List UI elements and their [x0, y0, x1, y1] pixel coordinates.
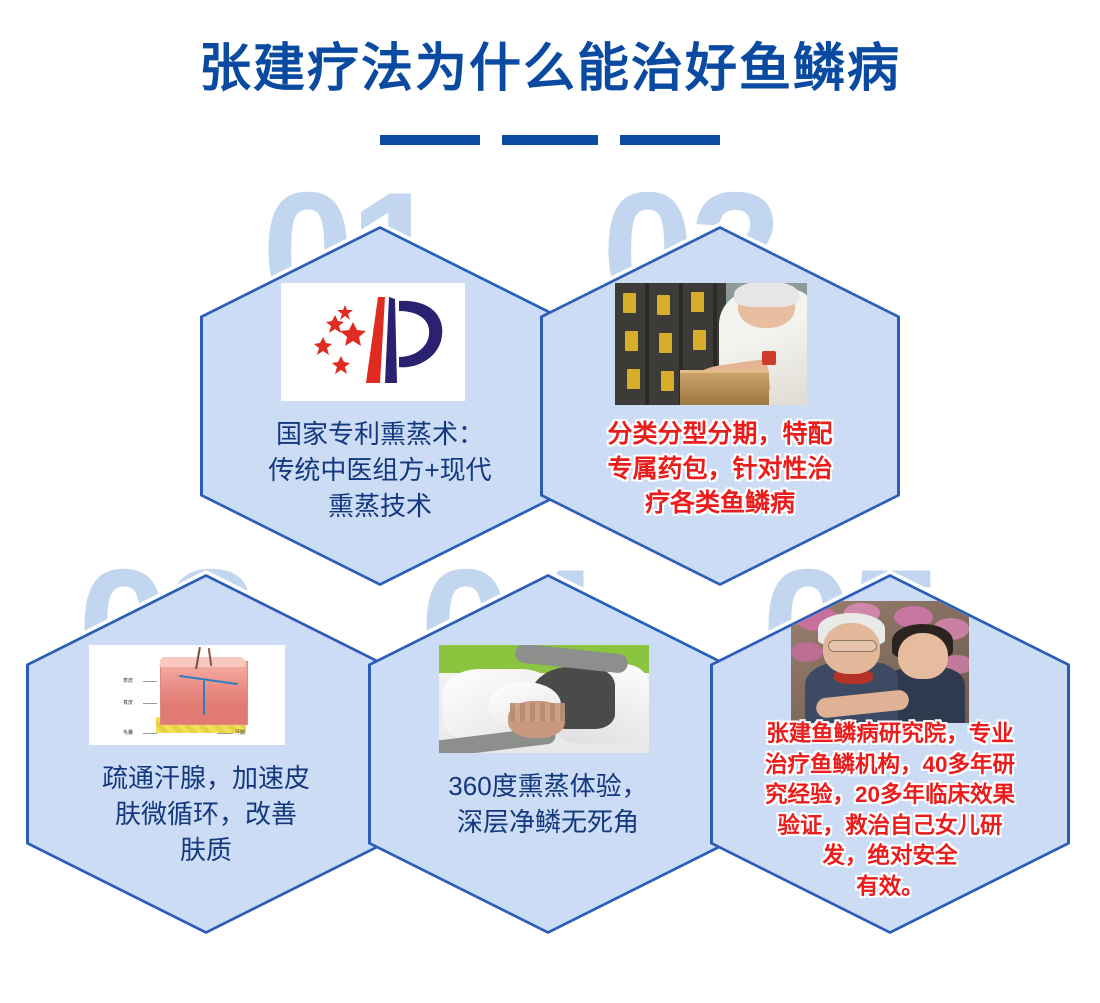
divider-dash-3	[620, 135, 720, 145]
leader-line	[143, 703, 157, 704]
drawer-label	[661, 371, 674, 391]
card-02-hexagon[interactable]: 分类分型分期，特配 专属药包，针对性治 疗各类鱼鳞病	[540, 226, 900, 586]
epidermis-surface	[158, 657, 246, 667]
divider-dash-1	[380, 135, 480, 145]
divider-dash-2	[502, 135, 598, 145]
drawer-label	[623, 293, 636, 313]
open-drawer	[680, 370, 768, 405]
leader-line	[143, 733, 157, 734]
poster-root: 张建疗法为什么能治好鱼鳞病 01 02 03 04 05	[0, 0, 1100, 1003]
card-04-text: 360度熏蒸体验， 深层净鳞无死角	[371, 769, 725, 841]
drawer-label	[627, 369, 640, 389]
family-photo-image	[791, 601, 969, 723]
founder-family-photo	[791, 601, 969, 723]
patent-logo-image	[281, 283, 465, 401]
skin-cross-section-diagram: 表皮 真皮 毛囊 汗腺	[89, 645, 285, 745]
tcm-pharmacy-image	[615, 283, 807, 405]
blood-vessel	[203, 681, 205, 715]
leader-line	[143, 681, 157, 682]
card-02-body: 分类分型分期，特配 专属药包，针对性治 疗各类鱼鳞病	[543, 229, 897, 583]
drawer-label	[657, 295, 670, 315]
label-follicle: 毛囊	[123, 729, 133, 736]
steam-bed-image	[439, 645, 649, 753]
drawer-label	[693, 330, 706, 350]
card-01-body: 国家专利熏蒸术： 传统中医组方+现代 熏蒸技术	[203, 229, 557, 583]
card-03-text: 疏通汗腺，加速皮 肤微循环，改善 肤质	[29, 761, 383, 869]
card-02-text: 分类分型分期，特配 专属药包，针对性治 疗各类鱼鳞病	[543, 417, 897, 521]
skin-diagram-image: 表皮 真皮 毛囊 汗腺	[89, 645, 285, 745]
face-mosaic	[510, 703, 565, 720]
doctor-hair	[734, 283, 799, 307]
drawer-label	[691, 292, 704, 312]
label-sweat-gland: 汗腺	[235, 729, 245, 736]
blossom	[791, 642, 823, 662]
tcm-pharmacy-photo	[615, 283, 807, 405]
daughter-face	[898, 633, 948, 679]
patent-logo-icon	[281, 283, 465, 401]
label-dermis: 真皮	[123, 699, 133, 706]
title-divider	[0, 135, 1100, 145]
page-title: 张建疗法为什么能治好鱼鳞病	[0, 26, 1100, 101]
card-01-text: 国家专利熏蒸术： 传统中医组方+现代 熏蒸技术	[203, 417, 557, 525]
drawer-label	[625, 331, 638, 351]
card-01-hexagon[interactable]: 国家专利熏蒸术： 传统中医组方+现代 熏蒸技术	[200, 226, 560, 586]
drawer-label	[659, 333, 672, 353]
steam-treatment-photo	[439, 645, 649, 753]
coat-badge	[762, 351, 776, 365]
glasses-icon	[828, 640, 876, 652]
label-epidermis: 表皮	[123, 677, 133, 684]
leader-line	[217, 733, 233, 734]
